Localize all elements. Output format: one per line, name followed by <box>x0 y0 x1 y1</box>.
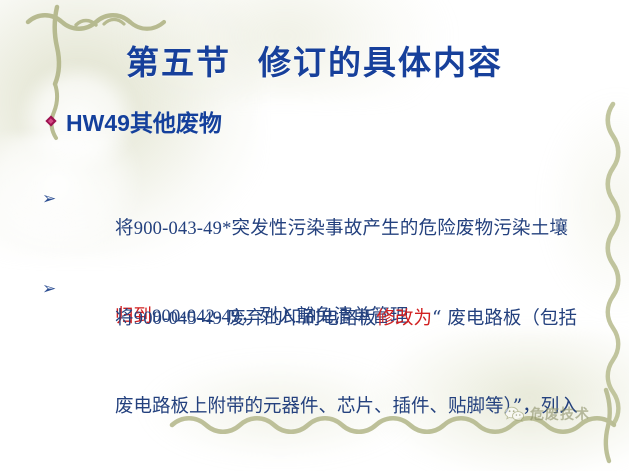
bullet-1-line-1-seg-1: 将900-043-49*突发性污染事故产生的危险废物污染土壤 <box>115 219 568 239</box>
bullet-2-line-1-seg-1: 将900-045-49 废弃的印刷电路板 <box>115 309 376 329</box>
bullet-1-line-1: 将900-043-49*突发性污染事故产生的危险废物污染土壤 <box>68 185 617 273</box>
bullet-2-line-1-seg-3: “ 废电路板（包括 <box>432 308 577 329</box>
bullet-2-line-3: 豁免清单 <box>68 450 617 471</box>
bullet-2-line-1: 将900-045-49 废弃的印刷电路板修改为“ 废电路板（包括 <box>68 275 617 363</box>
watermark-label: 危废技术 <box>530 404 590 424</box>
slide-canvas: 第五节 修订的具体内容 HW49其他废物 ➢ 将900-043-49*突发性污染… <box>0 0 629 471</box>
bullet-2-lines: 将900-045-49 废弃的印刷电路板修改为“ 废电路板（包括 废电路板上附带… <box>68 275 617 471</box>
bullet-2-line-1-seg-2: 修改为 <box>377 308 433 329</box>
arrow-bullet-icon: ➢ <box>42 275 68 304</box>
vine-top-horizontal-icon <box>28 15 130 29</box>
slide-title: 第五节 修订的具体内容 <box>0 36 629 84</box>
arrow-bullet-icon: ➢ <box>42 185 68 214</box>
wechat-icon <box>504 406 525 423</box>
bullet-item-2: ➢ 将900-045-49 废弃的印刷电路板修改为“ 废电路板（包括 废电路板上… <box>42 275 617 471</box>
section-heading-label: HW49其他废物 <box>66 104 222 138</box>
watermark: 危废技术 <box>504 404 590 424</box>
section-heading: HW49其他废物 <box>44 104 222 138</box>
diamond-bullet-icon <box>44 115 57 128</box>
